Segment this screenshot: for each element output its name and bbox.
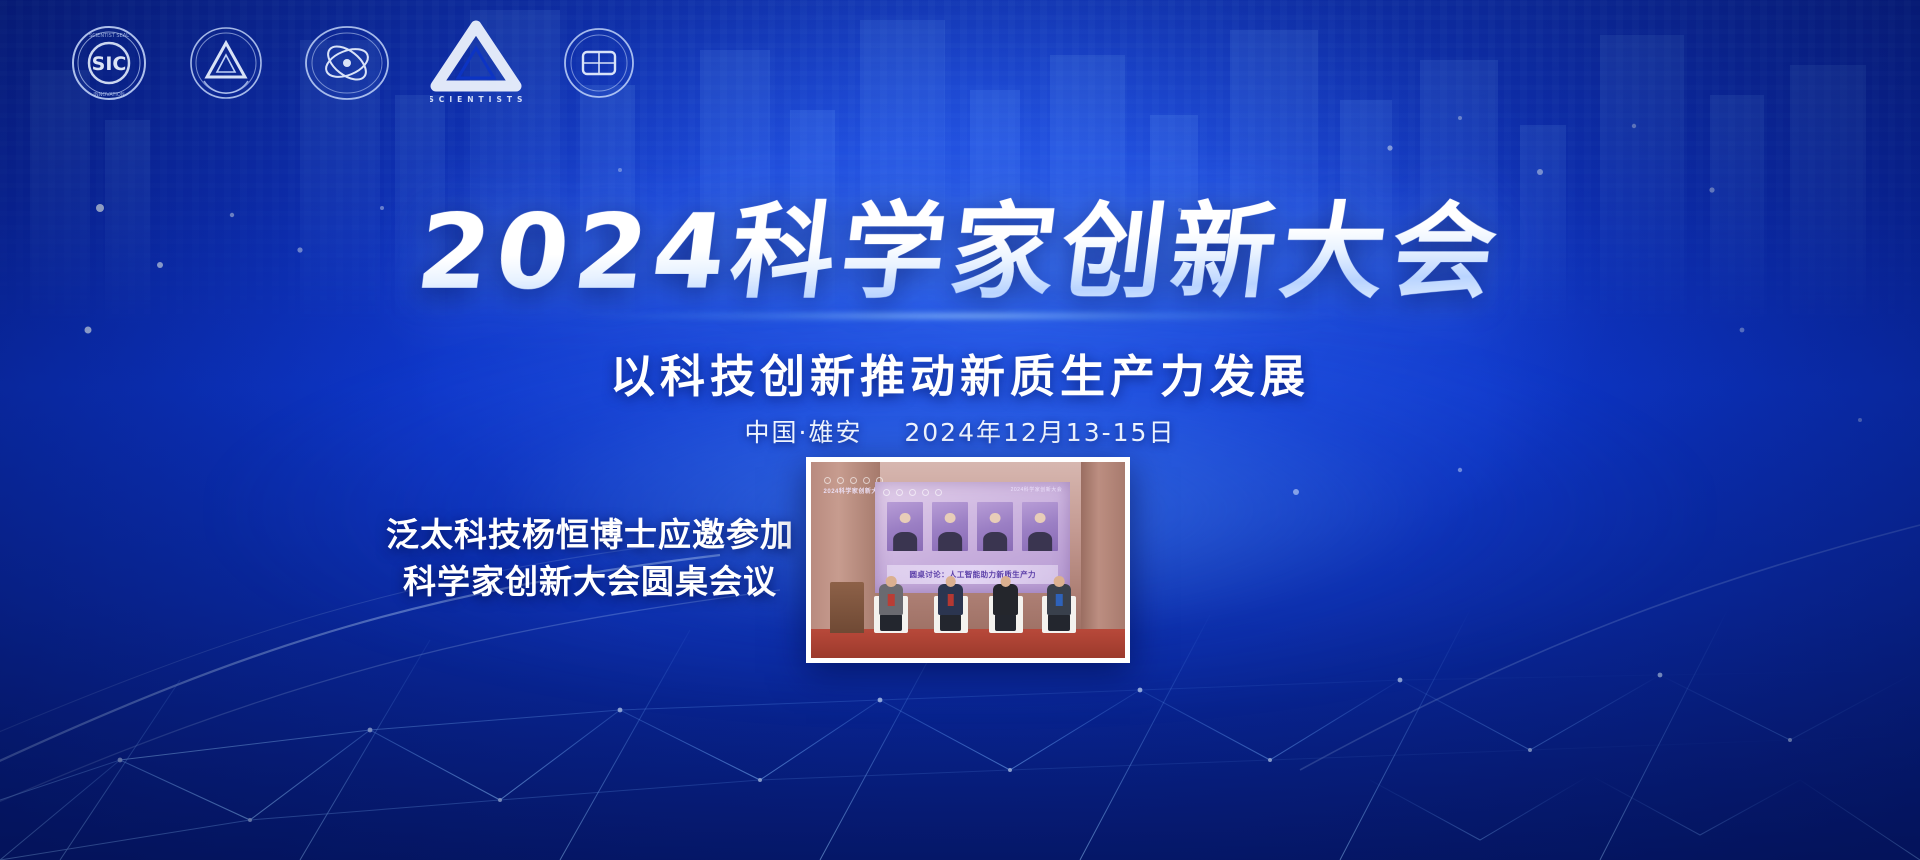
- event-location: 中国·雄安: [745, 418, 863, 447]
- sponsor-logos: SIC SCIENTIST SEAL INNOVATION: [70, 20, 636, 111]
- photo-stage-floor: [811, 629, 1125, 658]
- screen-session-banner: 圆桌讨论：人工智能助力新质生产力: [887, 565, 1058, 584]
- news-caption: 泛太科技杨恒博士应邀参加 科学家创新大会圆桌会议: [380, 512, 800, 606]
- portrait-head: [945, 513, 956, 524]
- event-date: 2024年12月13-15日: [904, 418, 1175, 447]
- portrait-card: 嘉宾二: [932, 502, 968, 551]
- caption-line-2: 科学家创新大会圆桌会议: [380, 559, 800, 606]
- panelist-lanyard: [888, 594, 895, 606]
- portrait-head: [1035, 513, 1046, 524]
- title-block: 2024科学家创新大会: [0, 196, 1920, 308]
- portrait-card: 嘉宾一: [887, 502, 923, 551]
- svg-text:SCIENTIST SEAL: SCIENTIST SEAL: [89, 33, 129, 39]
- panelist: [930, 574, 971, 633]
- screen-icon-2: [896, 489, 903, 496]
- panelist-lanyard: [947, 594, 954, 606]
- portrait-body: [1028, 532, 1052, 551]
- screen-icon-5: [935, 489, 942, 496]
- portrait-card: 嘉宾三: [977, 502, 1013, 551]
- svg-text:INNOVATION: INNOVATION: [93, 92, 124, 98]
- panelist-legs: [1048, 614, 1069, 632]
- photo-podium: [830, 582, 865, 633]
- event-photo: 2024科学家创新大会 2024科学家创新大会 嘉宾一: [811, 462, 1125, 658]
- logo-triangle-seal: [188, 25, 264, 106]
- poster-canvas: SIC SCIENTIST SEAL INNOVATION: [0, 0, 1920, 860]
- panelist-head: [945, 576, 956, 587]
- wall-icon-1: [824, 477, 831, 484]
- logo-atom-seal: [304, 24, 390, 107]
- screen-header-title: 2024科学家创新大会: [1011, 486, 1063, 493]
- panelist-lanyard: [1056, 594, 1063, 606]
- title-underglow: [580, 312, 1340, 320]
- panelist-legs: [940, 614, 961, 632]
- screen-icon-3: [909, 489, 916, 496]
- panelist-legs: [995, 614, 1016, 632]
- portrait-body: [983, 532, 1007, 551]
- caption-line-1: 泛太科技杨恒博士应邀参加: [380, 512, 800, 559]
- svg-text:S C I E N T I S T S: S C I E N T I S T S: [430, 95, 522, 104]
- panelist: [1039, 574, 1080, 633]
- panelist-head: [1054, 576, 1065, 587]
- logo-round-badge: [562, 26, 636, 105]
- event-meta: 中国·雄安 2024年12月13-15日: [0, 413, 1920, 449]
- event-photo-frame: 2024科学家创新大会 2024科学家创新大会 嘉宾一: [806, 457, 1130, 663]
- screen-icon-4: [922, 489, 929, 496]
- logo-triangle-mark: S C I E N T I S T S: [430, 20, 522, 111]
- subtitle: 以科技创新推动新质生产力发展: [0, 340, 1920, 405]
- screen-portrait-row: 嘉宾一 嘉宾二 嘉宾三 嘉宾四: [887, 502, 1058, 551]
- portrait-card: 嘉宾四: [1022, 502, 1058, 551]
- portrait-body: [893, 532, 917, 551]
- page-title: 2024科学家创新大会: [411, 196, 1508, 308]
- wall-icon-3: [850, 477, 857, 484]
- portrait-body: [938, 532, 962, 551]
- logo-sic-seal: SIC SCIENTIST SEAL INNOVATION: [70, 24, 148, 107]
- portrait-head: [990, 513, 1001, 524]
- portrait-head: [900, 513, 911, 524]
- wall-icon-4: [863, 477, 870, 484]
- screen-icon-1: [883, 489, 890, 496]
- wall-icon-2: [837, 477, 844, 484]
- svg-text:SIC: SIC: [92, 53, 127, 75]
- panelist-head: [886, 576, 897, 587]
- panelist-torso: [993, 584, 1017, 615]
- panelist-head: [1000, 576, 1011, 587]
- panelist-legs: [880, 614, 901, 632]
- panelist: [985, 574, 1026, 633]
- panelist: [871, 574, 912, 633]
